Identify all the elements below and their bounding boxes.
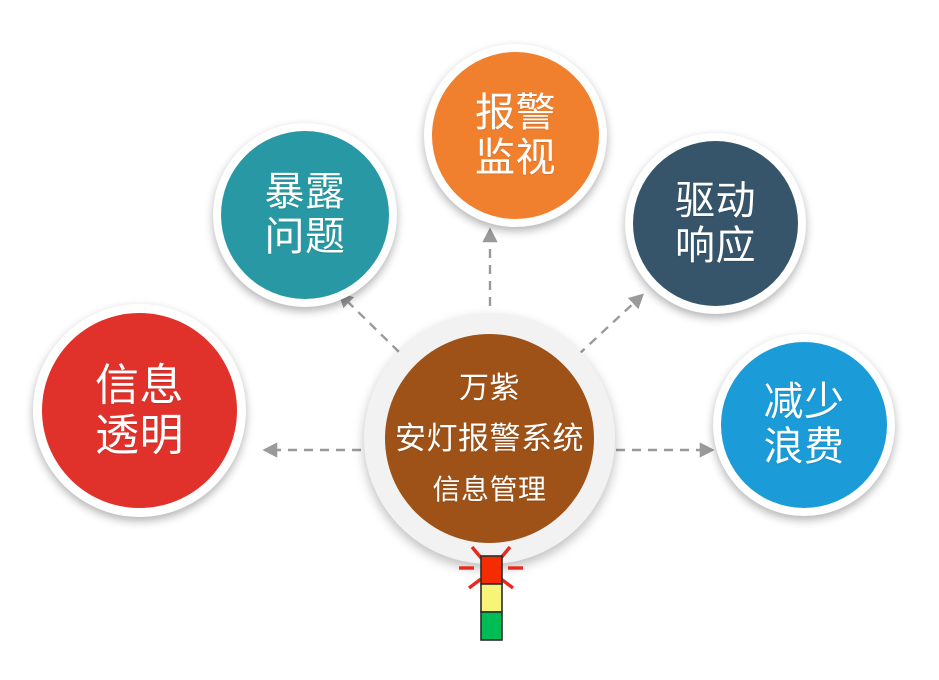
center-hub-line1: 万紫 [364,372,615,406]
node-reduce-waste[interactable]: 减少 浪费 [713,334,895,516]
node-label: 减少 浪费 [764,380,845,470]
center-hub-line2: 安灯报警系统 [364,422,615,457]
node-expose-problems[interactable]: 暴露 问题 [213,123,397,307]
node-label: 报警 监视 [475,91,556,181]
center-hub-label: 万紫 安灯报警系统 信息管理 [364,372,615,506]
diagram-canvas: 报警 监视 暴露 问题 驱动 响应 信息 透明 减少 浪费 万紫 安灯报警系统 … [0,0,939,680]
arrow-to-upper-left-node [345,299,399,352]
center-hub-line3: 信息管理 [364,474,615,505]
node-alarm-monitoring[interactable]: 报警 监视 [424,44,607,227]
green-lamp-segment [481,612,502,640]
node-label: 信息 透明 [95,361,184,460]
node-label: 暴露 问题 [265,170,346,260]
andon-light-icon [452,543,530,645]
node-drive-response[interactable]: 驱动 响应 [625,133,806,314]
node-information-transparency[interactable]: 信息 透明 [33,304,246,517]
yellow-lamp-segment [481,584,502,612]
andon-lamp-body [481,556,502,640]
node-label: 驱动 响应 [675,179,756,269]
red-lamp-segment [481,556,502,584]
arrow-to-upper-right-node [578,300,637,355]
center-hub[interactable]: 万紫 安灯报警系统 信息管理 [364,313,615,564]
